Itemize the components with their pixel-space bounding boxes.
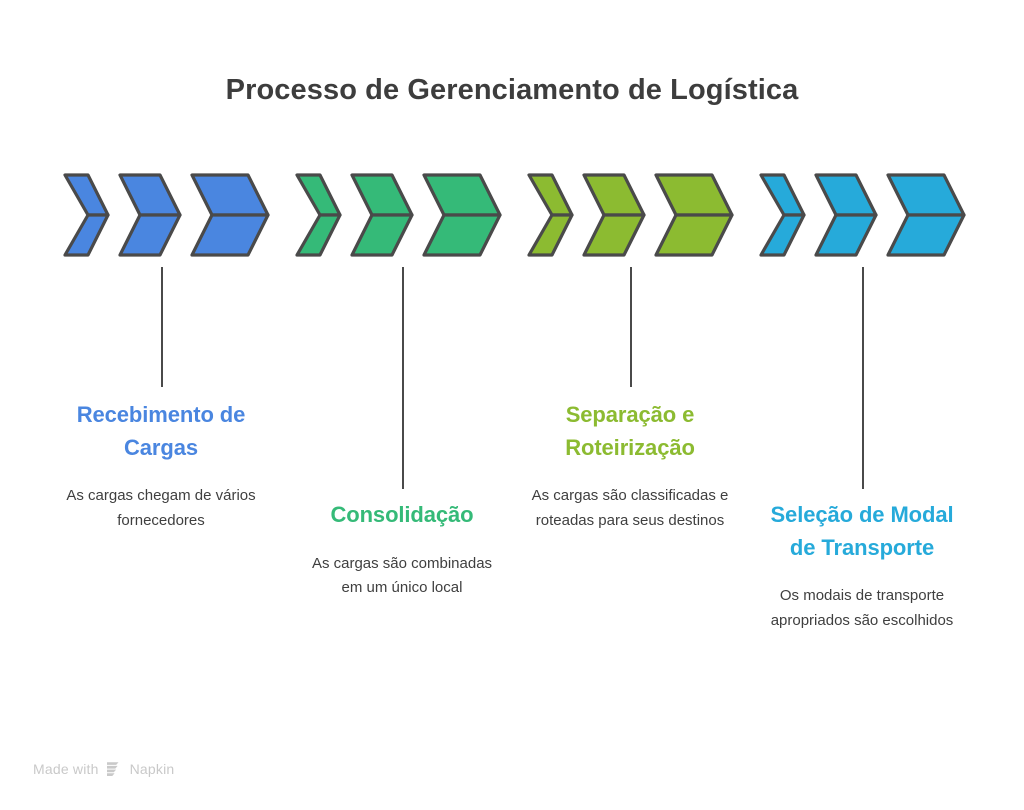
watermark[interactable]: Made with Napkin bbox=[33, 761, 174, 777]
step-3-chevron-group bbox=[524, 172, 736, 258]
step-item-2[interactable]: Consolidação As cargas são combinadas em… bbox=[302, 499, 502, 601]
triple-chevron-right-icon bbox=[756, 172, 968, 258]
step-item-1[interactable]: Recebimento de Cargas As cargas chegam d… bbox=[61, 399, 261, 534]
step-2-description: As cargas são combinadas em um único loc… bbox=[302, 552, 502, 602]
step-item-4[interactable]: Seleção de Modal de Transporte Os modais… bbox=[762, 499, 962, 634]
step-1-heading: Recebimento de Cargas bbox=[61, 399, 261, 464]
watermark-prefix: Made with bbox=[33, 761, 99, 777]
page-title: Processo de Gerenciamento de Logística bbox=[0, 74, 1024, 107]
triple-chevron-right-icon bbox=[60, 172, 272, 258]
step-3-description: As cargas são classificadas e roteadas p… bbox=[530, 484, 730, 534]
napkin-logo-icon bbox=[106, 761, 123, 777]
triple-chevron-right-icon bbox=[292, 172, 504, 258]
step-2-heading: Consolidação bbox=[302, 499, 502, 532]
triple-chevron-right-icon bbox=[524, 172, 736, 258]
diagram-canvas: Processo de Gerenciamento de Logística bbox=[0, 0, 1024, 810]
step-item-3[interactable]: Separação e Roteirização As cargas são c… bbox=[530, 399, 730, 534]
connector-line-step-3 bbox=[630, 267, 632, 387]
step-4-description: Os modais de transporte apropriados são … bbox=[762, 584, 962, 634]
step-3-heading: Separação e Roteirização bbox=[530, 399, 730, 464]
connector-line-step-1 bbox=[161, 267, 163, 387]
connector-line-step-2 bbox=[402, 267, 404, 489]
watermark-brand: Napkin bbox=[130, 761, 175, 777]
step-4-chevron-group bbox=[756, 172, 968, 258]
step-1-chevron-group bbox=[60, 172, 272, 258]
step-1-description: As cargas chegam de vários fornecedores bbox=[61, 484, 261, 534]
step-4-heading: Seleção de Modal de Transporte bbox=[762, 499, 962, 564]
connector-line-step-4 bbox=[862, 267, 864, 489]
step-2-chevron-group bbox=[292, 172, 504, 258]
